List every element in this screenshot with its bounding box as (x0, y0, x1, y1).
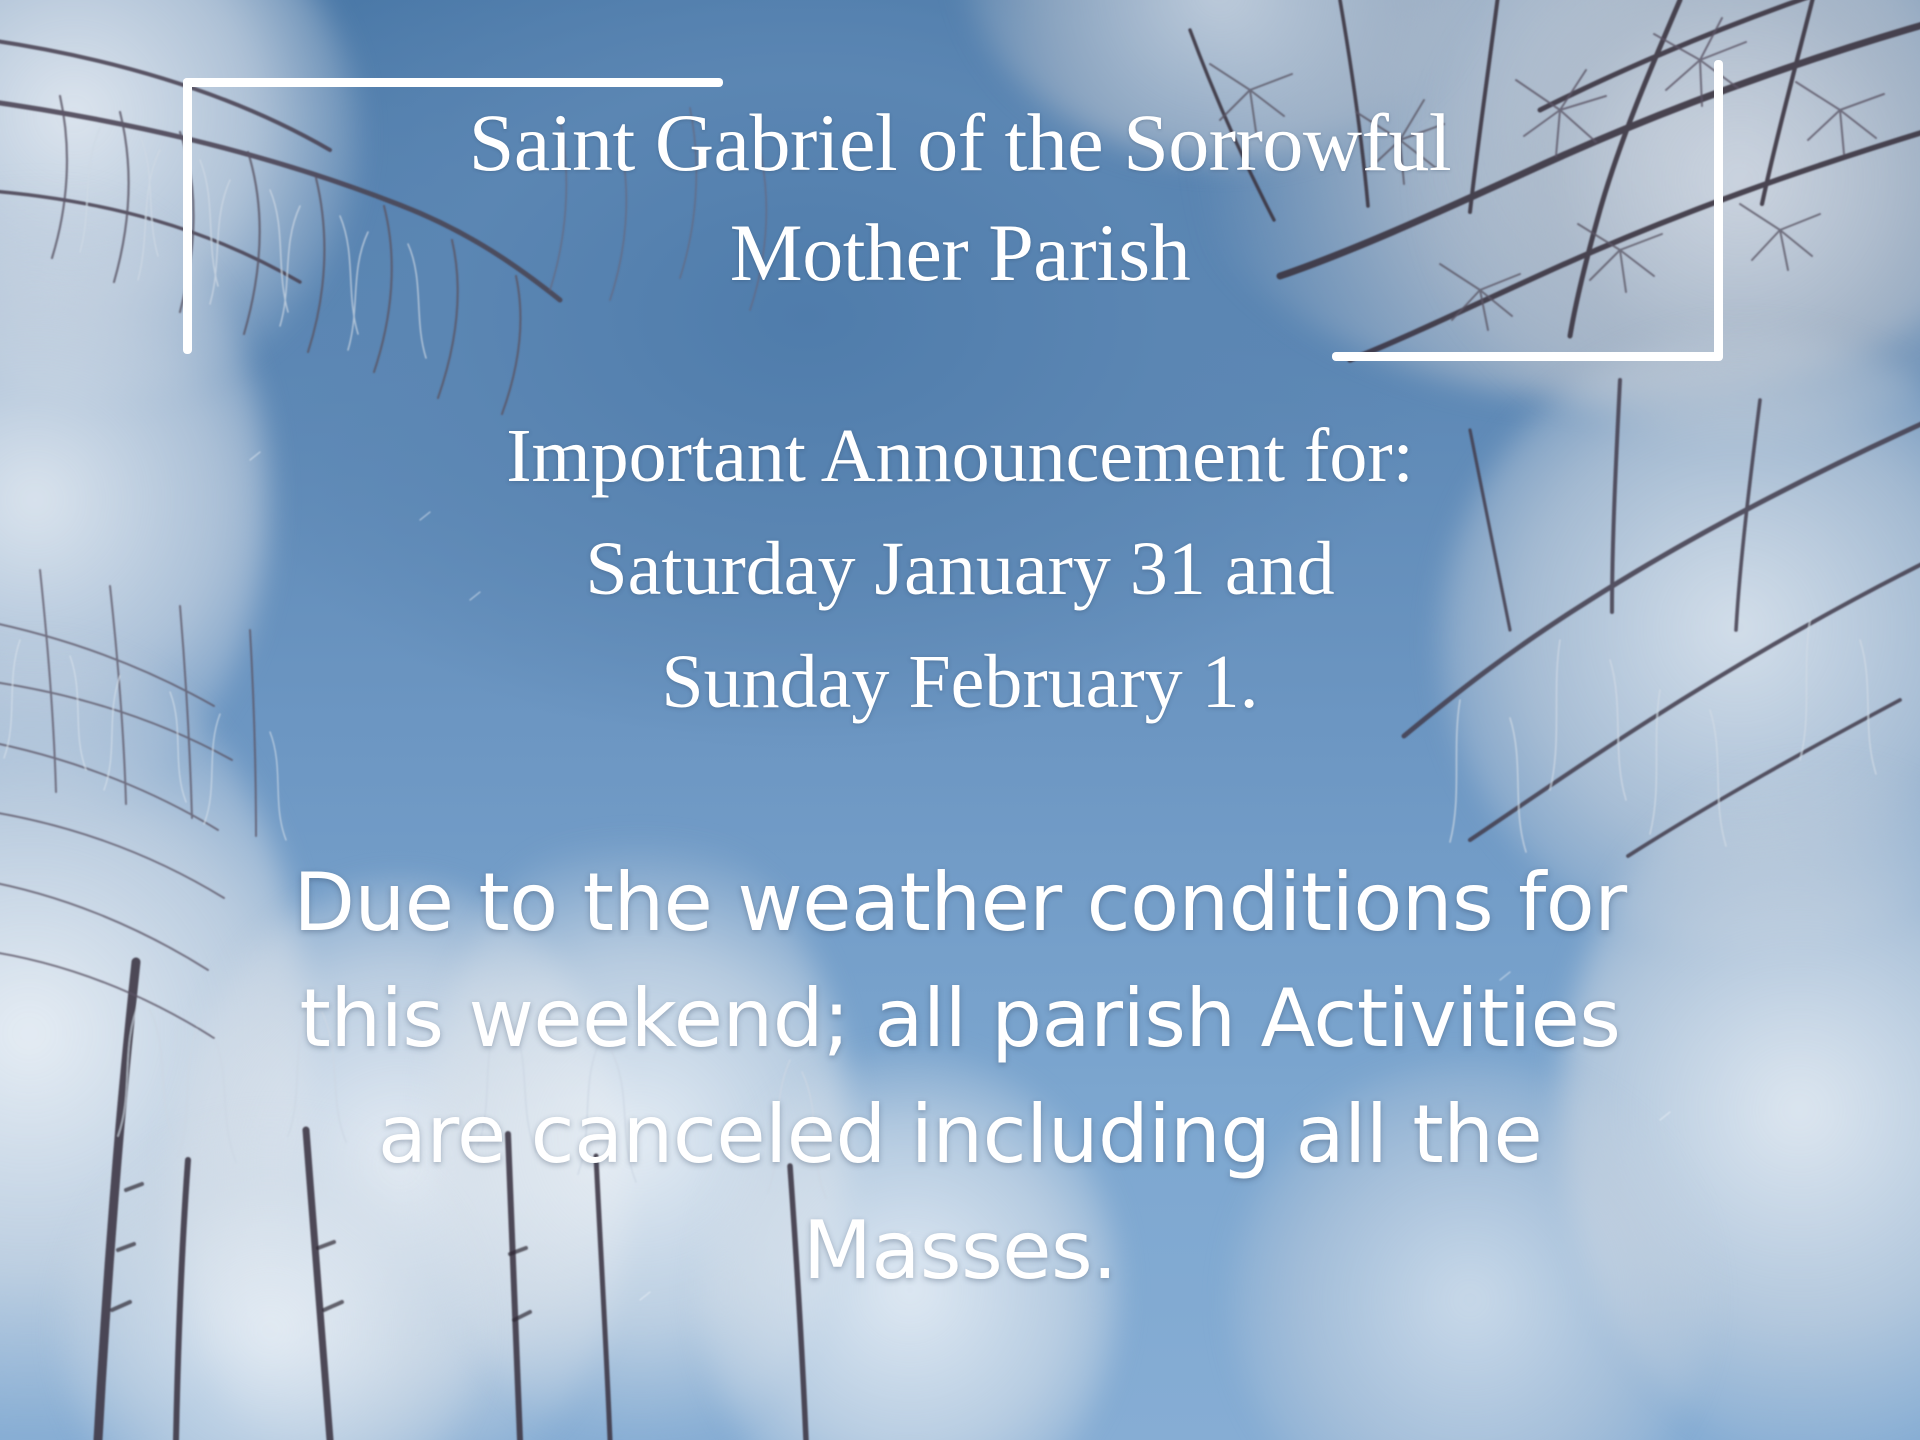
announcement-line-2: Saturday January 31 and (0, 513, 1920, 626)
title-line-2: Mother Parish (0, 198, 1920, 308)
body-line-1: Due to the weather conditions for (0, 845, 1920, 961)
page-title: Saint Gabriel of the Sorrowful Mother Pa… (0, 88, 1920, 308)
announcement-line-3: Sunday February 1. (0, 626, 1920, 739)
announcement-heading: Important Announcement for: Saturday Jan… (0, 400, 1920, 740)
announcement-poster: Saint Gabriel of the Sorrowful Mother Pa… (0, 0, 1920, 1440)
body-line-3: are canceled including all the (0, 1077, 1920, 1193)
announcement-line-1: Important Announcement for: (0, 400, 1920, 513)
title-line-1: Saint Gabriel of the Sorrowful (0, 88, 1920, 198)
body-line-4: Masses. (0, 1193, 1920, 1309)
frame-top-bar (183, 78, 723, 87)
body-line-2: this weekend; all parish Activities (0, 961, 1920, 1077)
announcement-body: Due to the weather conditions for this w… (0, 845, 1920, 1309)
frame-bottom-bar (1332, 352, 1723, 361)
